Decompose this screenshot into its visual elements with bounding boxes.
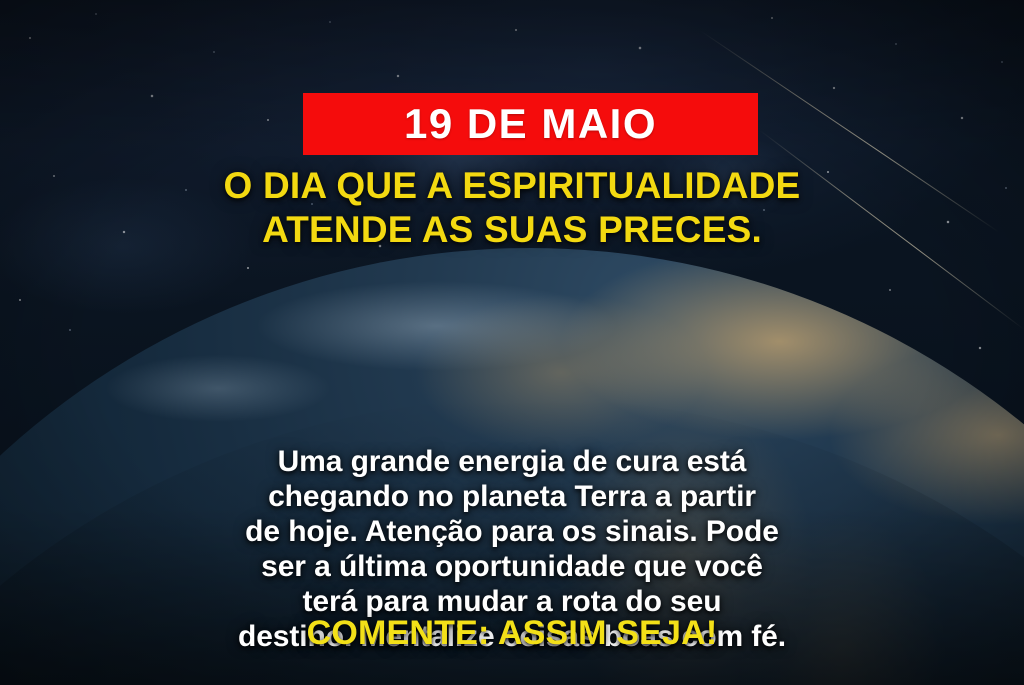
body-line-4: ser a última oportunidade que você — [0, 549, 1024, 584]
date-banner: 19 DE MAIO — [303, 93, 758, 155]
body-line-1: Uma grande energia de cura está — [0, 444, 1024, 479]
body-line-3: de hoje. Atenção para os sinais. Pode — [0, 514, 1024, 549]
headline-line-1: O DIA QUE A ESPIRITUALIDADE — [0, 164, 1024, 208]
call-to-action-text: COMENTE: ASSIM SEJA! — [307, 614, 718, 652]
poster-canvas: 19 DE MAIO O DIA QUE A ESPIRITUALIDADE A… — [0, 0, 1024, 685]
call-to-action: COMENTE: ASSIM SEJA! — [0, 613, 1024, 653]
body-line-2: chegando no planeta Terra a partir — [0, 479, 1024, 514]
headline-line-2: ATENDE AS SUAS PRECES. — [0, 208, 1024, 252]
date-banner-text: 19 DE MAIO — [404, 103, 657, 145]
headline: O DIA QUE A ESPIRITUALIDADE ATENDE AS SU… — [0, 164, 1024, 252]
poster-content: 19 DE MAIO O DIA QUE A ESPIRITUALIDADE A… — [0, 0, 1024, 685]
